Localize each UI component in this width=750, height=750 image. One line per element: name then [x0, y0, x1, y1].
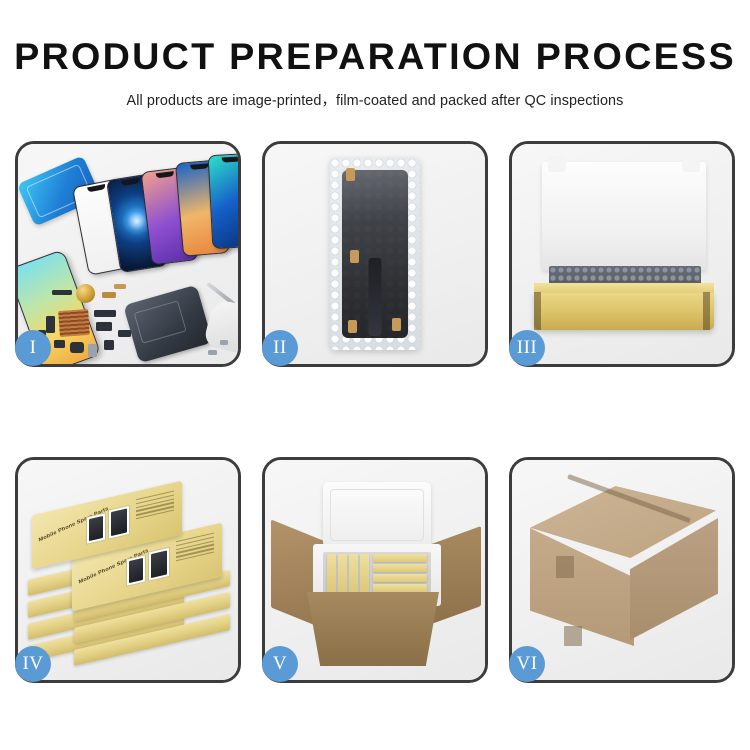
page-header: PRODUCT PREPARATION PROCESS All products…: [0, 0, 750, 110]
process-panel-2: II: [262, 141, 488, 367]
speaker-coil-part: [76, 284, 95, 303]
phone-lineup: [80, 152, 238, 277]
small-part: [208, 350, 217, 355]
process-panel-5: V: [262, 457, 488, 683]
box-print-lines: [136, 491, 174, 522]
panel-4-numeral-badge: IV: [15, 646, 51, 682]
packed-box: [373, 564, 427, 572]
box-window: [126, 554, 146, 587]
small-part: [94, 310, 116, 317]
flex-cable: [369, 258, 382, 336]
process-panel-3: III: [509, 141, 735, 367]
process-panel-6: VI: [509, 457, 735, 683]
small-part: [118, 330, 131, 337]
page-subtitle: All products are image-printed，film-coat…: [0, 89, 750, 110]
packed-box: [360, 554, 369, 592]
process-panel-4: Mobile Phone Spare Parts Mobile Phone Sp…: [15, 457, 241, 683]
process-panel-1: I: [15, 141, 241, 367]
packed-box: [373, 574, 427, 582]
foam-cooler-lid: [323, 482, 431, 548]
tape-tab: [346, 168, 355, 181]
small-part: [88, 344, 97, 357]
small-part: [54, 340, 65, 348]
panel-4-image: Mobile Phone Spare Parts Mobile Phone Sp…: [18, 460, 238, 680]
small-part: [70, 342, 84, 353]
foam-liner: [542, 162, 706, 270]
box-edge-left: [534, 292, 541, 330]
panel-6-numeral-badge: VI: [509, 646, 545, 682]
box-edge-right: [703, 292, 710, 330]
carton-tape-upper: [556, 556, 574, 578]
bubble-wrap-sleeve: [330, 158, 420, 350]
process-panel-grid: I II III: [15, 141, 735, 683]
panel-3-numeral-badge: III: [509, 330, 545, 366]
technician-hand: [203, 298, 238, 354]
phone-teal: [208, 153, 238, 249]
panel-1-numeral-badge: I: [15, 330, 51, 366]
box-window: [148, 547, 170, 582]
panel-2-numeral-badge: II: [262, 330, 298, 366]
panel-1-image: [18, 144, 238, 364]
panel-6-image: [512, 460, 732, 680]
packed-box: [373, 584, 427, 592]
small-part: [114, 284, 126, 289]
small-part: [46, 316, 55, 333]
box-print-lines: [176, 533, 214, 564]
packed-box: [327, 554, 336, 592]
small-part: [52, 290, 72, 295]
circuit-board-part: [58, 309, 90, 337]
panel-2-image: [265, 144, 485, 364]
small-part: [96, 322, 112, 331]
tape-tab: [392, 318, 401, 331]
panel-5-image: [265, 460, 485, 680]
packed-box: [338, 554, 347, 592]
carton-tape-lower: [564, 626, 582, 646]
page-title: PRODUCT PREPARATION PROCESS: [0, 38, 750, 75]
box-stack: Mobile Phone Spare Parts Mobile Phone Sp…: [24, 482, 234, 672]
shipping-carton-body: [307, 592, 439, 666]
tape-tab: [350, 250, 359, 263]
kraft-box-front: [534, 292, 714, 330]
box-window: [86, 512, 106, 545]
tape-tab: [348, 320, 357, 333]
small-part: [104, 340, 114, 350]
small-part: [220, 340, 228, 345]
small-part: [102, 292, 116, 298]
phone-chassis-open: [123, 285, 213, 364]
box-window: [108, 505, 130, 540]
panel-3-image: [512, 144, 732, 364]
packed-box: [349, 554, 358, 592]
panel-5-numeral-badge: V: [262, 646, 298, 682]
packed-box: [373, 554, 427, 562]
